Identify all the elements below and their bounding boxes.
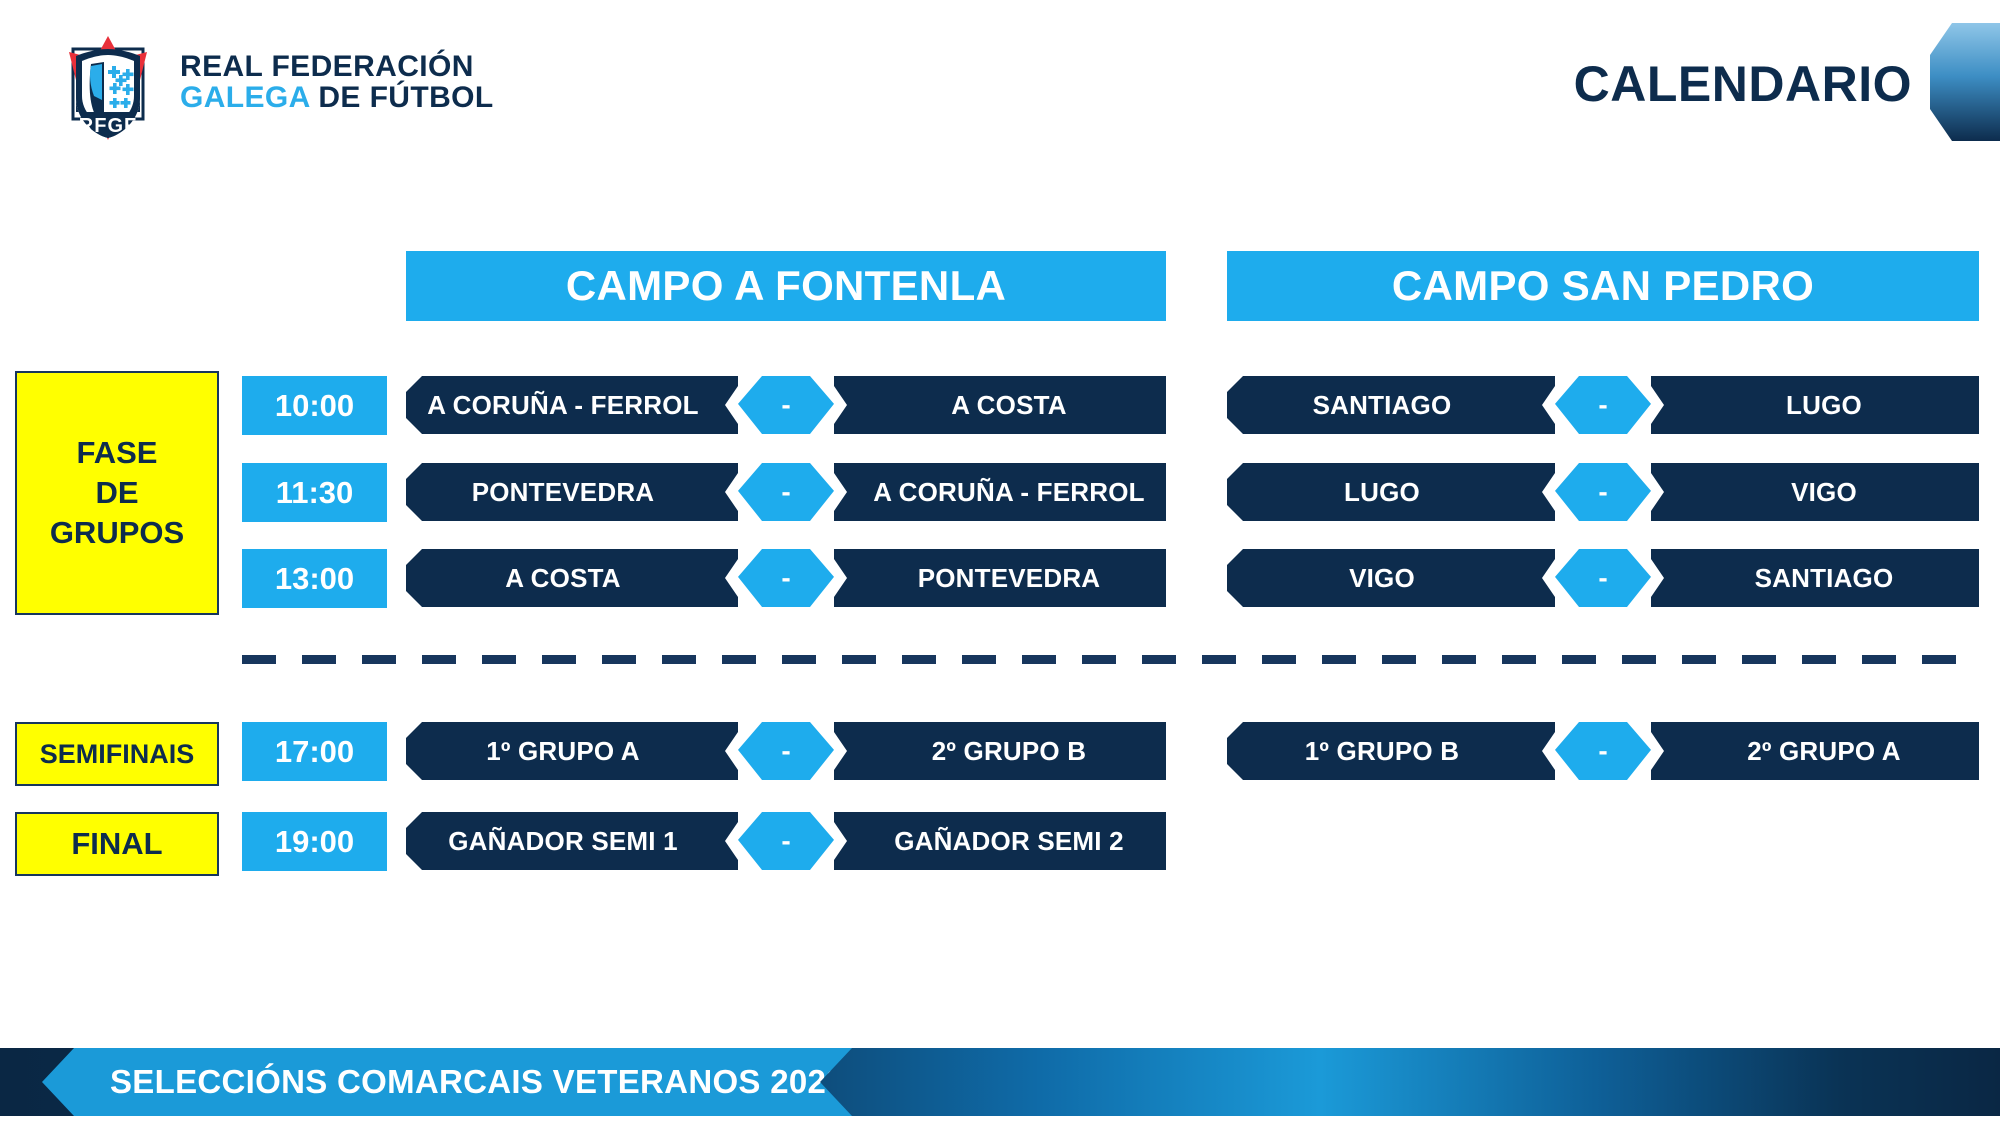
phase-label-final: FINAL <box>15 812 219 876</box>
field-header-a-fontenla: CAMPO A FONTENLA <box>406 251 1166 321</box>
match-row: PONTEVEDRA - A CORUÑA - FERROL <box>406 463 1166 521</box>
dashed-divider <box>242 655 1980 664</box>
match-row: A COSTA - PONTEVEDRA <box>406 549 1166 607</box>
federation-logo-text: REAL FEDERACIÓN GALEGA DE FÚTBOL <box>180 52 494 113</box>
match-row: 1º GRUPO A - 2º GRUPO B <box>406 722 1166 780</box>
team-home: LUGO <box>1227 463 1555 521</box>
footer-title: SELECCIÓNS COMARCAIS VETERANOS 2023 <box>110 1063 845 1101</box>
vs-dash: - <box>781 478 790 506</box>
team-away: 2º GRUPO B <box>834 722 1166 780</box>
phase-label-semifinais: SEMIFINAIS <box>15 722 219 786</box>
match-row: A CORUÑA - FERROL - A COSTA <box>406 376 1166 434</box>
team-away: LUGO <box>1651 376 1979 434</box>
team-home: GAÑADOR SEMI 1 <box>406 812 738 870</box>
phase-grupos-line2: DE <box>50 473 184 513</box>
team-home: 1º GRUPO A <box>406 722 738 780</box>
vs-separator: - <box>738 722 834 780</box>
vs-dash: - <box>1598 737 1607 765</box>
logo-line-1: REAL FEDERACIÓN <box>180 52 494 83</box>
team-away: GAÑADOR SEMI 2 <box>834 812 1166 870</box>
match-row: SANTIAGO - LUGO <box>1227 376 1979 434</box>
time-chip: 17:00 <box>242 722 387 781</box>
page-title-block: CALENDARIO <box>1574 38 2000 130</box>
time-chip: 11:30 <box>242 463 387 522</box>
time-chip: 19:00 <box>242 812 387 871</box>
shield-text: RFGF <box>79 115 137 137</box>
logo-word-galega: GALEGA <box>180 81 310 114</box>
match-row: GAÑADOR SEMI 1 - GAÑADOR SEMI 2 <box>406 812 1166 870</box>
match-row: LUGO - VIGO <box>1227 463 1979 521</box>
vs-separator: - <box>1555 549 1651 607</box>
match-row: VIGO - SANTIAGO <box>1227 549 1979 607</box>
page-title: CALENDARIO <box>1574 55 1912 113</box>
page-footer: SELECCIÓNS COMARCAIS VETERANOS 2023 <box>0 1025 2000 1125</box>
team-away: SANTIAGO <box>1651 549 1979 607</box>
team-home: PONTEVEDRA <box>406 463 738 521</box>
rfgf-shield-logo-icon: RFGF <box>52 28 164 143</box>
field-header-san-pedro: CAMPO SAN PEDRO <box>1227 251 1979 321</box>
vs-dash: - <box>1598 478 1607 506</box>
vs-separator: - <box>738 549 834 607</box>
page-header: RFGF REAL FEDERACIÓN GALEGA DE FÚTBOL CA… <box>0 0 2000 170</box>
vs-dash: - <box>781 564 790 592</box>
team-away: VIGO <box>1651 463 1979 521</box>
vs-dash: - <box>781 827 790 855</box>
vs-separator: - <box>738 376 834 434</box>
time-chip: 10:00 <box>242 376 387 435</box>
vs-dash: - <box>1598 564 1607 592</box>
vs-separator: - <box>1555 376 1651 434</box>
vs-dash: - <box>781 391 790 419</box>
team-home: A CORUÑA - FERROL <box>406 376 738 434</box>
vs-separator: - <box>738 463 834 521</box>
logo-word-de-futbol: DE FÚTBOL <box>310 81 494 114</box>
team-away: PONTEVEDRA <box>834 549 1166 607</box>
team-away: 2º GRUPO A <box>1651 722 1979 780</box>
phase-grupos-line3: GRUPOS <box>50 513 184 553</box>
team-away: A CORUÑA - FERROL <box>834 463 1166 521</box>
vs-separator: - <box>1555 463 1651 521</box>
federation-logo: RFGF REAL FEDERACIÓN GALEGA DE FÚTBOL <box>52 28 452 143</box>
vs-separator: - <box>1555 722 1651 780</box>
footer-banner: SELECCIÓNS COMARCAIS VETERANOS 2023 <box>42 1048 852 1116</box>
vs-separator: - <box>738 812 834 870</box>
team-away: A COSTA <box>834 376 1166 434</box>
team-home: VIGO <box>1227 549 1555 607</box>
team-home: SANTIAGO <box>1227 376 1555 434</box>
chevron-right-icon <box>1930 23 2000 141</box>
phase-grupos-line1: FASE <box>50 433 184 473</box>
team-home: 1º GRUPO B <box>1227 722 1555 780</box>
phase-label-fase-de-grupos: FASE DE GRUPOS <box>15 371 219 615</box>
vs-dash: - <box>1598 391 1607 419</box>
time-chip: 13:00 <box>242 549 387 608</box>
team-home: A COSTA <box>406 549 738 607</box>
match-row: 1º GRUPO B - 2º GRUPO A <box>1227 722 1979 780</box>
vs-dash: - <box>781 737 790 765</box>
logo-line-2: GALEGA DE FÚTBOL <box>180 83 494 114</box>
